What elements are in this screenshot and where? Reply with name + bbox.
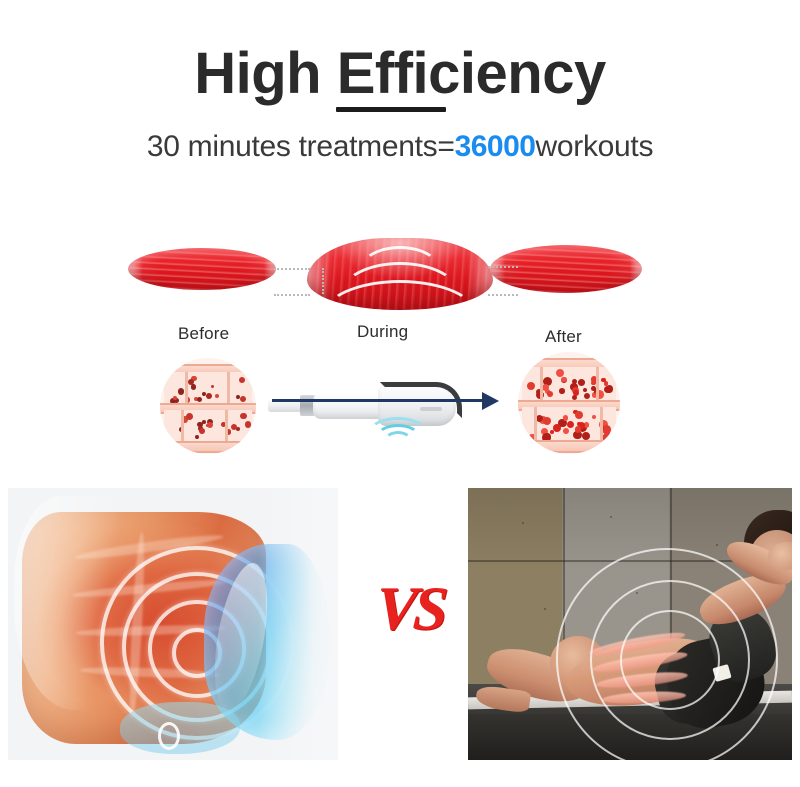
fat-cell-dot — [606, 385, 613, 392]
connector-line-4 — [488, 294, 518, 296]
fat-cell-dot — [240, 413, 247, 420]
fat-cell-dot — [527, 382, 535, 390]
fat-cell-dot — [236, 395, 240, 399]
muscle-before-body — [128, 248, 276, 290]
cell-chamber-top — [164, 372, 252, 403]
tissue-cell-before — [160, 358, 256, 454]
fat-cell-dot — [573, 390, 579, 396]
transition-arrow-head — [482, 392, 499, 410]
panel-treatment-illustration — [8, 488, 338, 760]
wall-speck — [544, 608, 546, 610]
fat-cell-dot — [211, 385, 214, 388]
fat-cell-dot — [606, 427, 611, 432]
fat-cell-dot — [240, 396, 246, 402]
fat-cell-dot — [245, 421, 251, 427]
fat-cell-dot — [197, 397, 202, 402]
cell-membrane-bottom — [518, 440, 620, 453]
applicator-belt-strap — [120, 702, 240, 754]
cell-wall-c — [534, 407, 537, 440]
connector-step-1 — [308, 268, 324, 280]
fat-cell-dot — [583, 388, 587, 392]
fat-cell-dot — [578, 379, 585, 386]
fat-cell-dot — [547, 391, 553, 397]
connector-line-1 — [274, 268, 310, 270]
fat-cell-dot — [575, 411, 583, 419]
cell-wall-d — [600, 407, 603, 440]
cell-membrane-bottom — [160, 441, 256, 454]
tissue-cell-after — [518, 352, 620, 454]
cell-wall-d — [225, 410, 228, 441]
muscle-before — [128, 248, 276, 290]
device-emission-waves — [368, 417, 428, 443]
cell-wall-a — [185, 372, 188, 403]
connector-step-2 — [308, 282, 324, 294]
stage-label-before: Before — [178, 324, 229, 344]
fat-cell-dot — [584, 393, 591, 400]
fat-cell-dot — [582, 432, 590, 440]
fat-cell-dot — [178, 388, 185, 395]
muscle-during-body — [307, 238, 493, 310]
panel-workout-photo — [468, 488, 792, 760]
fat-cell-dot — [563, 415, 569, 421]
fat-cell-dot — [239, 377, 246, 384]
subtitle-prefix: 30 minutes treatments= — [147, 130, 455, 163]
fat-cell-dot — [563, 428, 569, 434]
fat-cell-dot — [543, 417, 551, 425]
athlete-hand — [768, 542, 792, 570]
fat-cell-dot — [553, 424, 561, 432]
device-slot — [420, 407, 442, 411]
cell-wall-b — [227, 372, 230, 403]
focus-ring-inner — [620, 610, 720, 710]
subtitle-suffix: workouts — [536, 130, 654, 163]
subtitle-highlight-value: 36000 — [455, 130, 536, 163]
stage-label-during: During — [357, 322, 408, 342]
fat-cell-dot — [592, 415, 596, 419]
stage-label-after: After — [545, 327, 582, 347]
cell-chamber-top — [522, 367, 616, 400]
wall-speck — [522, 522, 524, 524]
fat-cell-dot — [550, 430, 554, 434]
page-title: High Efficiency — [0, 44, 800, 105]
muscle-during — [307, 238, 493, 310]
muscle-after-body — [490, 245, 642, 293]
cell-wall-a — [540, 367, 543, 400]
fat-cell-dot — [559, 388, 565, 394]
connector-line-3 — [488, 266, 518, 268]
fat-cell-dot — [567, 421, 574, 428]
fat-cell-dot — [601, 378, 606, 383]
wall-speck — [610, 516, 612, 518]
wave-arc-inner — [384, 431, 412, 451]
fat-cell-dot — [199, 428, 205, 434]
connector-line-2 — [274, 294, 310, 296]
fat-cell-dot — [575, 426, 582, 433]
fat-cell-dot — [173, 396, 177, 400]
fat-cell-dot — [215, 394, 219, 398]
cell-chamber-bottom — [164, 410, 252, 441]
transition-arrow-line — [272, 399, 484, 402]
fat-cell-dot — [186, 413, 193, 420]
panel-edge-fade — [258, 488, 338, 760]
fat-cell-dot — [191, 384, 197, 390]
fat-cell-dot — [195, 435, 199, 439]
ems-handpiece-icon — [268, 382, 458, 434]
infographic-poster: High Efficiency 30 minutes treatments=36… — [0, 0, 800, 787]
fat-cell-dot — [207, 422, 213, 428]
muscle-after — [490, 245, 642, 293]
vs-badge: VS — [354, 578, 466, 640]
title-underline — [336, 107, 446, 112]
fat-cell-dot — [561, 377, 566, 382]
fat-cell-dot — [206, 393, 212, 399]
wall-speck — [716, 544, 718, 546]
belt-loop — [158, 722, 180, 750]
fat-cell-dot — [202, 420, 206, 424]
cell-wall-c — [181, 410, 184, 441]
cell-wall-b — [596, 367, 599, 400]
subtitle: 30 minutes treatments=36000workouts — [0, 130, 800, 164]
